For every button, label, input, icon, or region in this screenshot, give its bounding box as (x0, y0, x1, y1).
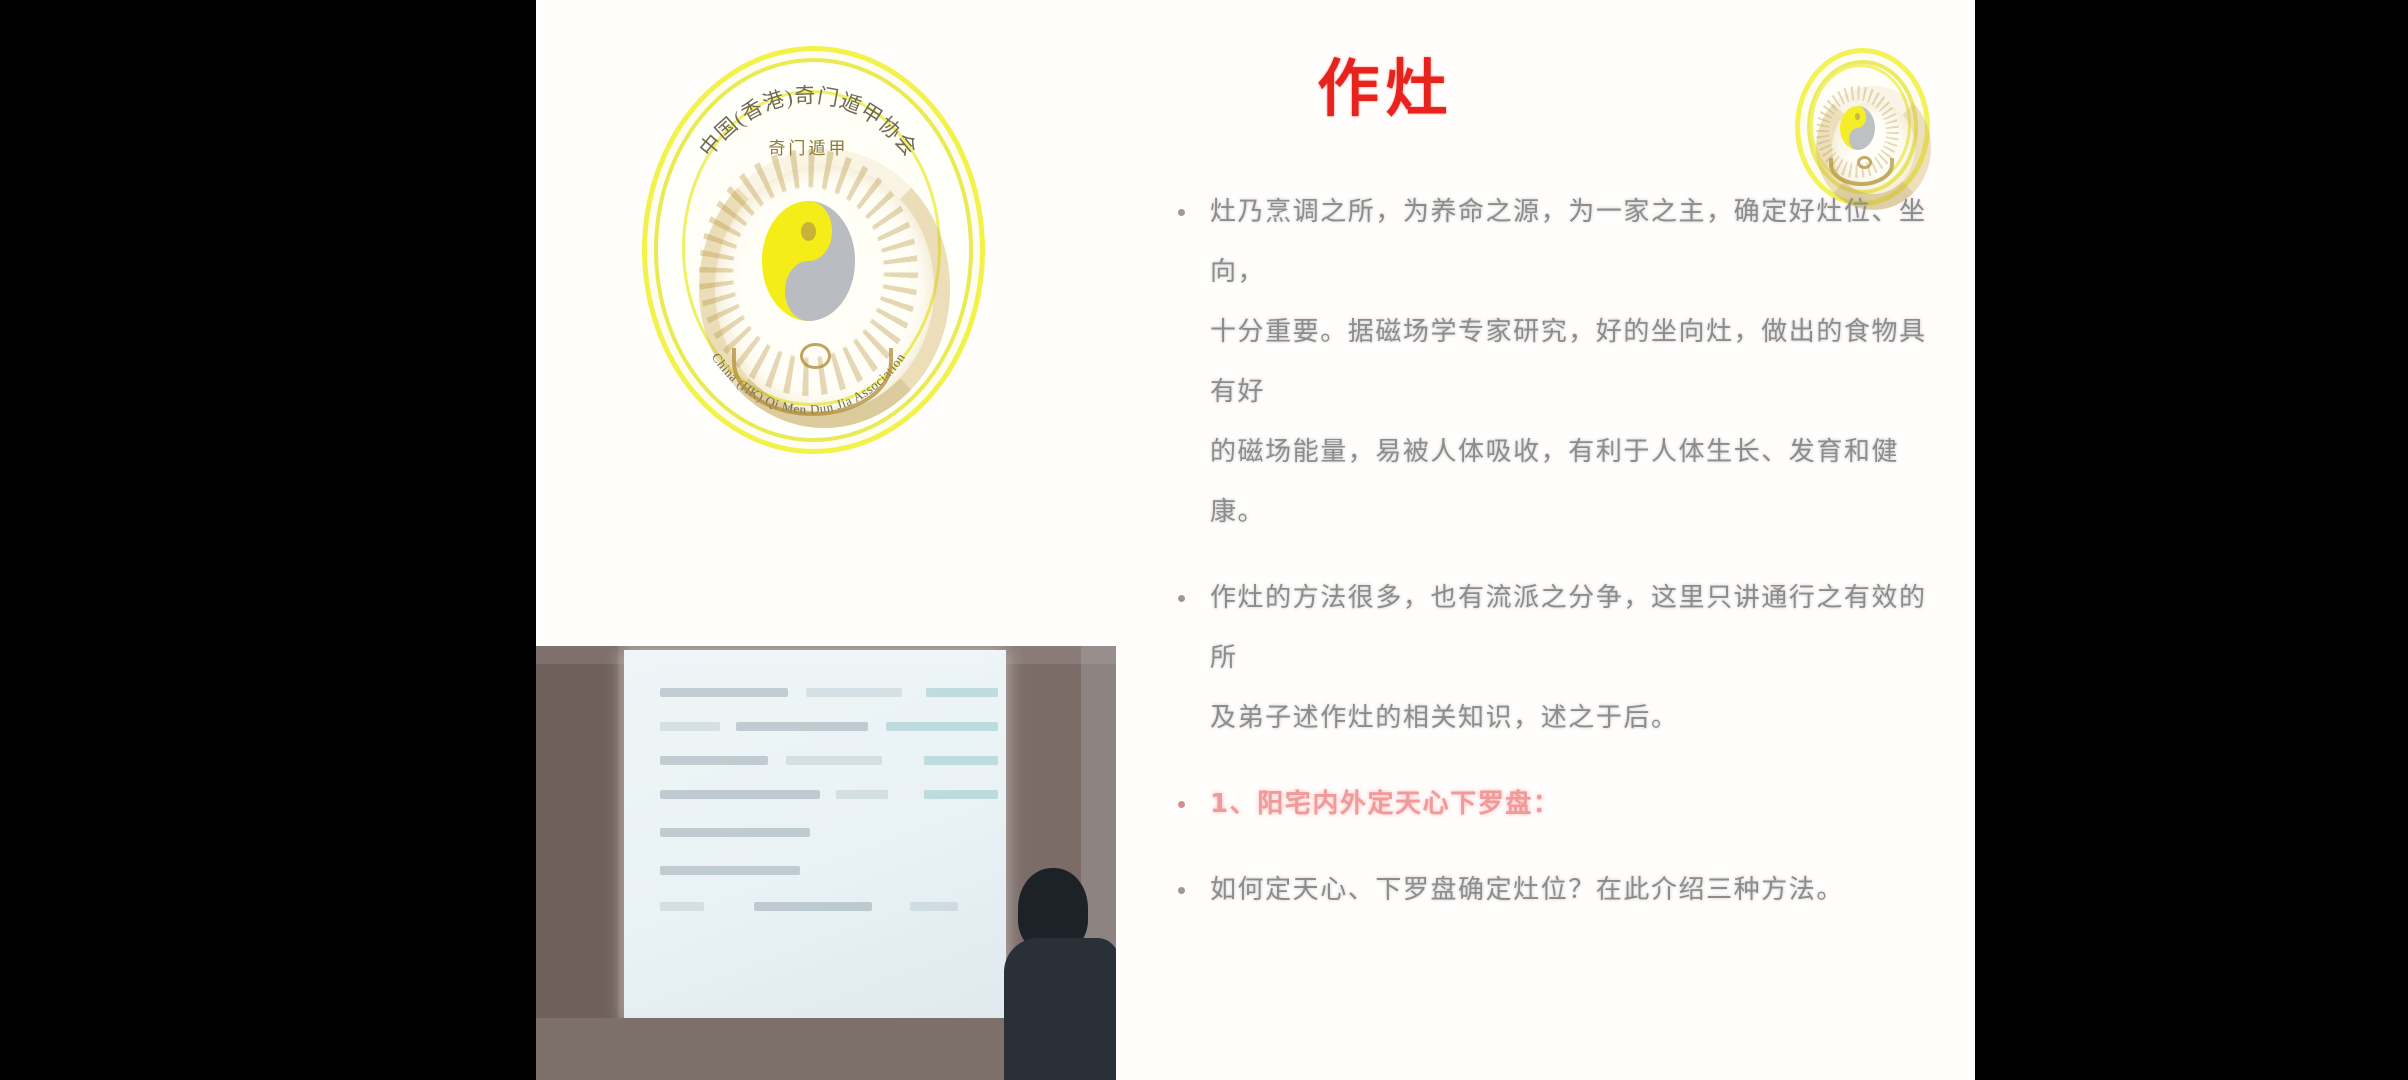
pip-screen-text-line (754, 902, 872, 911)
pip-screen-text-line (660, 866, 800, 875)
slide-bullet: 如何定天心、下罗盘确定灶位？在此介绍三种方法。 (1172, 860, 1952, 920)
emblem-center-label: 奇门遁甲 (709, 134, 909, 159)
pip-screen-text-line (806, 688, 902, 697)
slide-body: 灶乃烹调之所，为养命之源，为一家之主，确定好灶位、坐向，十分重要。据磁场学专家研… (1172, 182, 1952, 946)
taiji-dot-dark-small (1855, 135, 1861, 142)
pip-screen-text-line (786, 756, 882, 765)
pip-screen-text-line (924, 756, 998, 765)
taiji-yin-yang-icon (762, 201, 855, 320)
pip-screen-text-line (836, 790, 888, 799)
pip-screen-text-line (660, 756, 768, 765)
pip-top-glow (536, 646, 1116, 664)
slide-bullet: 作灶的方法很多，也有流派之分争，这里只讲通行之有效的所及弟子述作灶的相关知识，述… (1172, 568, 1952, 748)
bullet-line: 作灶的方法很多，也有流派之分争，这里只讲通行之有效的所 (1210, 568, 1952, 688)
pip-screen-text-line (926, 688, 998, 697)
presenter-camera-inset[interactable] (536, 646, 1116, 1080)
pip-screen-text-line (660, 688, 788, 697)
bullet-marker-icon (1178, 801, 1185, 808)
pip-screen-text-line (736, 722, 868, 731)
taiji-dot-light (801, 222, 816, 241)
slide-bullet: 灶乃烹调之所，为养命之源，为一家之主，确定好灶位、坐向，十分重要。据磁场学专家研… (1172, 182, 1952, 542)
pip-wall-left (536, 646, 618, 1080)
bullet-marker-icon (1178, 887, 1185, 894)
slide-bullet: 1、阳宅内外定天心下罗盘： (1172, 774, 1952, 834)
taiji-dot-light-small (1855, 113, 1861, 120)
pip-screen-text-line (660, 828, 810, 837)
taiji-dot-dark (801, 281, 816, 300)
bullet-line: 及弟子述作灶的相关知识，述之于后。 (1210, 688, 1952, 748)
bullet-line: 十分重要。据磁场学专家研究，好的坐向灶，做出的食物具有好 (1210, 302, 1952, 422)
letterbox-bar-left (0, 0, 536, 1080)
bullet-line: 的磁场能量，易被人体吸收，有利于人体生长、发育和健康。 (1210, 422, 1952, 542)
bullet-marker-icon (1178, 595, 1185, 602)
pip-screen-text-line (660, 722, 720, 731)
taiji-yin-yang-icon-small (1840, 106, 1875, 150)
pip-projection-screen (624, 650, 1006, 1022)
bullet-line: 如何定天心、下罗盘确定灶位？在此介绍三种方法。 (1210, 860, 1952, 920)
pip-screen-text-line (660, 902, 704, 911)
bullet-line: 1、阳宅内外定天心下罗盘： (1210, 774, 1952, 834)
video-player-frame: 中国(香港)奇门遁甲协会 China (HK) Qi Men Dun Jia A… (0, 0, 2408, 1080)
letterbox-bar-right (1975, 0, 2408, 1080)
bullet-line: 灶乃烹调之所，为养命之源，为一家之主，确定好灶位、坐向， (1210, 182, 1952, 302)
pip-screen-text-line (660, 790, 820, 799)
pip-screen-text-line (924, 790, 998, 799)
pip-presenter-silhouette (1004, 868, 1116, 1080)
pip-screen-text-line (886, 722, 998, 731)
association-emblem-small (1795, 48, 1920, 196)
pip-presenter-body (1004, 938, 1116, 1080)
slide-title: 作灶 (536, 38, 1975, 128)
bullet-marker-icon (1178, 209, 1185, 216)
pip-screen-text-line (910, 902, 958, 911)
